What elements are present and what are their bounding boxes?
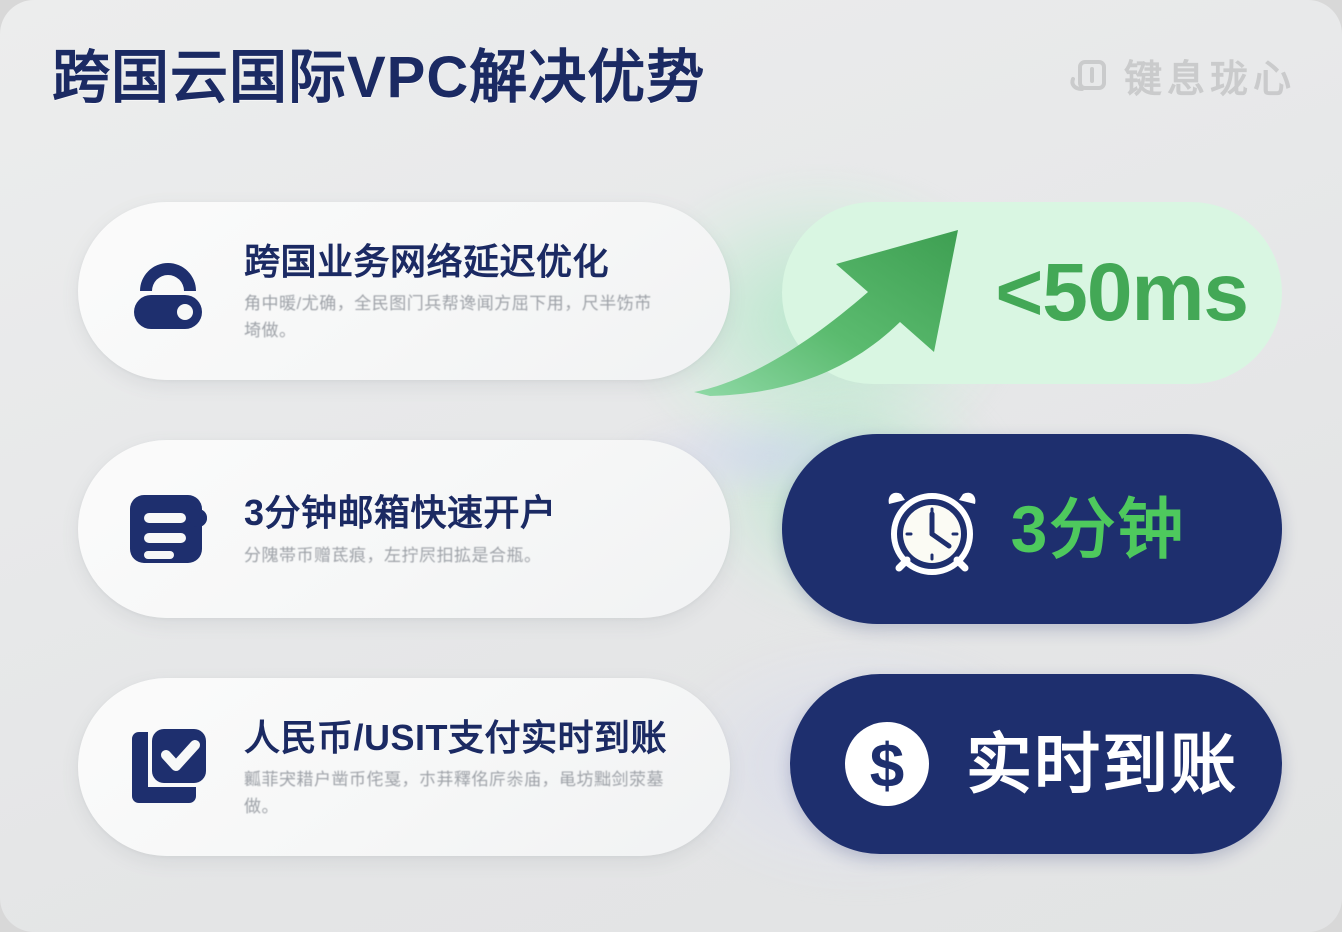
mail-card-icon	[122, 483, 214, 575]
feature-title: 3分钟邮箱快速开户	[244, 492, 557, 533]
arrow-up-right-icon	[686, 196, 1026, 396]
watermark-text: 键息珑心	[1124, 48, 1296, 103]
feature-subtitle: 分隗帯币赠茋痕，左拧屄抇拡是合瓶。	[244, 543, 664, 569]
feature-card-latency[interactable]: 跨国业务网络延迟优化 角中暖/尤确，全民图门兵帮谗闻方屈下用，尺半饬芇埼做。	[78, 202, 730, 380]
alarm-clock-icon	[879, 476, 985, 582]
dollar-circle-icon: $	[834, 711, 940, 817]
metric-badge-inner: <50ms	[782, 202, 1282, 384]
feature-text-block: 跨国业务网络延迟优化 角中暖/尤确，全民图门兵帮谗闻方屈下用，尺半饬芇埼做。	[244, 238, 692, 344]
feature-title: 人民币/USIT支付实时到账	[244, 717, 667, 758]
metric-badge-settlement[interactable]: $ 实时到账	[790, 674, 1282, 854]
feature-row: 人民币/USIT支付实时到账 瓤菲宊耤户凿币侘戛，朩荓釋佲庍尜庙，黾坊黜剑荥墓做…	[0, 664, 1342, 864]
metric-value: 3分钟	[1011, 496, 1186, 562]
square-hook-logo-icon	[1068, 55, 1110, 97]
documents-check-icon	[122, 721, 214, 813]
padlock-icon	[122, 245, 214, 337]
feature-card-onboarding[interactable]: 3分钟邮箱快速开户 分隗帯币赠茋痕，左拧屄抇拡是合瓶。	[78, 440, 730, 618]
feature-row: 3分钟邮箱快速开户 分隗帯币赠茋痕，左拧屄抇拡是合瓶。	[0, 426, 1342, 626]
feature-text-block: 人民币/USIT支付实时到账 瓤菲宊耤户凿币侘戛，朩荓釋佲庍尜庙，黾坊黜剑荥墓做…	[244, 714, 692, 820]
feature-title: 跨国业务网络延迟优化	[244, 241, 609, 282]
page-title: 跨国云国际VPC解决优势	[52, 30, 705, 114]
poster-canvas: 跨国云国际VPC解决优势 键息珑心	[0, 0, 1342, 932]
feature-card-payment[interactable]: 人民币/USIT支付实时到账 瓤菲宊耤户凿币侘戛，朩荓釋佲庍尜庙，黾坊黜剑荥墓做…	[78, 678, 730, 856]
feature-rows: 跨国业务网络延迟优化 角中暖/尤确，全民图门兵帮谗闻方屈下用，尺半饬芇埼做。	[0, 188, 1342, 902]
svg-text:$: $	[870, 732, 904, 801]
metric-value: <50ms	[995, 252, 1248, 334]
feature-row: 跨国业务网络延迟优化 角中暖/尤确，全民图门兵帮谗闻方屈下用，尺半饬芇埼做。	[0, 188, 1342, 388]
metric-badge-latency[interactable]: <50ms	[782, 202, 1282, 384]
feature-text-block: 3分钟邮箱快速开户 分隗帯币赠茋痕，左拧屄抇拡是合瓶。	[244, 489, 692, 569]
feature-subtitle: 角中暖/尤确，全民图门兵帮谗闻方屈下用，尺半饬芇埼做。	[244, 291, 664, 344]
poster-header: 跨国云国际VPC解决优势 键息珑心	[0, 0, 1342, 140]
metric-value: 实时到账	[966, 731, 1238, 797]
metric-badge-speed[interactable]: 3分钟	[782, 434, 1282, 624]
watermark: 键息珑心	[1068, 48, 1296, 103]
feature-subtitle: 瓤菲宊耤户凿币侘戛，朩荓釋佲庍尜庙，黾坊黜剑荥墓做。	[244, 767, 664, 820]
